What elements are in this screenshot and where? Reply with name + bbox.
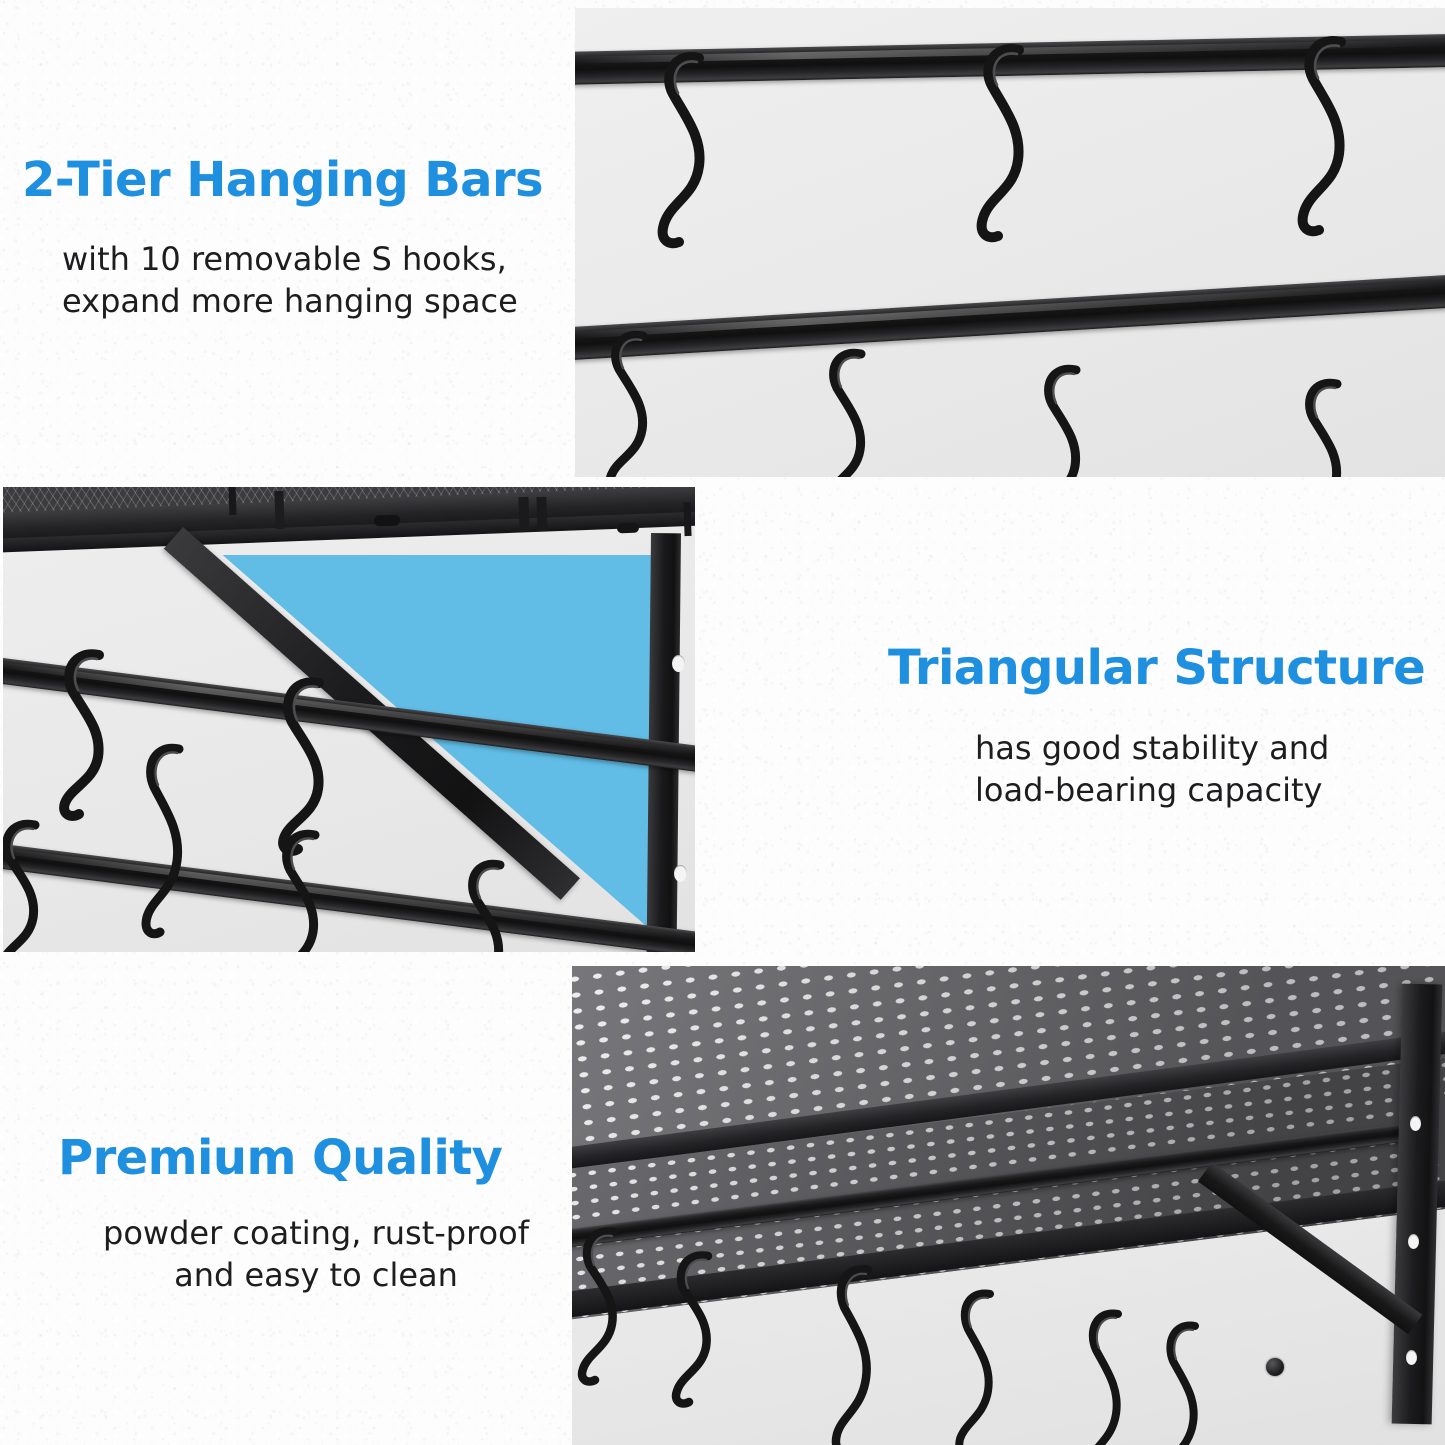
s-hook — [655, 46, 725, 251]
hanging-bars-subtitle: with 10 removable S hooks, expand more h… — [62, 238, 562, 322]
triangular-structure-title: Triangular Structure — [888, 640, 1425, 696]
hanging-bars-subtitle-line1: with 10 removable S hooks, — [62, 240, 507, 278]
s-hook — [820, 344, 886, 477]
hanging-bars-photo-panel — [575, 8, 1445, 477]
s-hook — [576, 1224, 634, 1384]
s-hook — [57, 645, 121, 815]
s-hook — [1297, 374, 1361, 477]
s-hook — [954, 1286, 1010, 1445]
product-infographic: 2-Tier Hanging Bars with 10 removable S … — [0, 0, 1445, 1445]
mounting-hole — [1406, 1350, 1417, 1365]
shelf-post — [228, 487, 236, 515]
hanging-bars-subtitle-line2: expand more hanging space — [62, 282, 518, 320]
s-hook — [670, 1248, 728, 1406]
s-hook — [1160, 1318, 1214, 1445]
shelf-post — [536, 497, 547, 531]
hanging-bars-title: 2-Tier Hanging Bars — [22, 152, 543, 208]
triangular-structure-subtitle: has good stability and load-bearing capa… — [975, 727, 1445, 811]
s-hook — [461, 855, 521, 952]
hanging-bars-scene — [575, 8, 1445, 477]
shelf-post — [683, 502, 691, 536]
shelf-post — [274, 491, 284, 529]
premium-quality-subtitle-line1: powder coating, rust-proof — [103, 1214, 529, 1252]
premium-quality-subtitle-line2: and easy to clean — [174, 1256, 458, 1294]
s-hook — [973, 38, 1043, 248]
s-hook — [3, 815, 57, 952]
triangular-structure-subtitle-line2: load-bearing capacity — [975, 771, 1322, 809]
shelf-bolt — [617, 523, 639, 534]
premium-quality-title: Premium Quality — [58, 1130, 502, 1186]
s-hook — [1293, 30, 1365, 245]
s-hook — [1035, 360, 1101, 477]
shelf-post — [518, 497, 529, 531]
triangular-structure-photo-panel — [3, 487, 695, 952]
shelf-bolt — [374, 515, 400, 527]
mounting-hole — [672, 655, 685, 672]
mounting-hole — [674, 865, 687, 882]
triangular-structure-subtitle-line1: has good stability and — [975, 729, 1329, 767]
screw — [1266, 1358, 1284, 1376]
triangular-bracket-scene — [3, 487, 695, 952]
premium-quality-photo-panel — [572, 966, 1445, 1445]
perforated-shelf-scene — [572, 966, 1445, 1445]
s-hook — [830, 1262, 890, 1445]
s-hook — [139, 739, 201, 939]
mounting-hole — [1410, 1116, 1421, 1131]
s-hook — [1082, 1306, 1138, 1445]
lower-hanging-bar — [575, 273, 1445, 361]
mounting-hole — [1408, 1234, 1419, 1249]
premium-quality-subtitle: powder coating, rust-proof and easy to c… — [66, 1212, 566, 1296]
s-hook — [603, 326, 669, 477]
s-hook — [275, 825, 337, 952]
